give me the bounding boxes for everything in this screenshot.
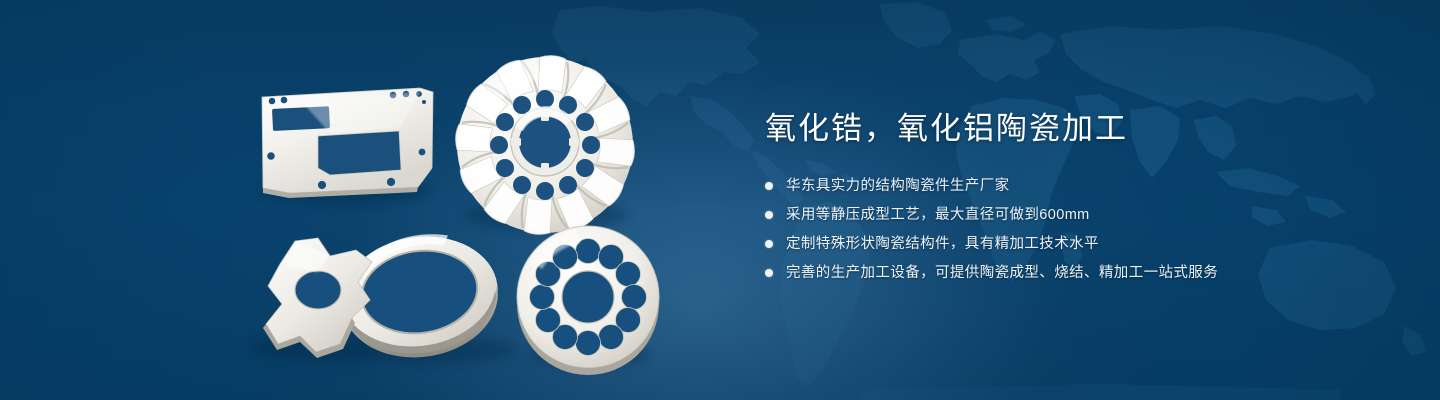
ceramic-mounting-plate — [262, 88, 433, 198]
list-item-label: 采用等静压成型工艺，最大直径可做到600mm — [786, 205, 1090, 225]
hero-banner: 氧化锆，氧化铝陶瓷加工 华东具实力的结构陶瓷件生产厂家 采用等静压成型工艺，最大… — [0, 0, 1440, 400]
list-item: 华东具实力的结构陶瓷件生产厂家 — [765, 176, 1385, 196]
list-item-label: 完善的生产加工设备，可提供陶瓷成型、烧结、精加工一站式服务 — [786, 263, 1218, 283]
bullet-dot-icon — [765, 240, 773, 248]
bullet-dot-icon — [765, 211, 773, 219]
list-item-label: 华东具实力的结构陶瓷件生产厂家 — [786, 176, 1010, 196]
list-item: 采用等静压成型工艺，最大直径可做到600mm — [765, 205, 1385, 225]
feature-list: 华东具实力的结构陶瓷件生产厂家 采用等静压成型工艺，最大直径可做到600mm 定… — [765, 176, 1385, 283]
page-title: 氧化锆，氧化铝陶瓷加工 — [765, 108, 1385, 150]
bullet-dot-icon — [765, 182, 773, 190]
list-item: 完善的生产加工设备，可提供陶瓷成型、烧结、精加工一站式服务 — [765, 263, 1385, 283]
list-item-label: 定制特殊形状陶瓷结构件，具有精加工技术水平 — [786, 234, 1099, 254]
product-image-group — [0, 0, 700, 400]
bullet-dot-icon — [765, 269, 773, 277]
ceramic-twelve-hole-disc — [517, 226, 659, 375]
list-item: 定制特殊形状陶瓷结构件，具有精加工技术水平 — [765, 234, 1385, 254]
banner-copy: 氧化锆，氧化铝陶瓷加工 华东具实力的结构陶瓷件生产厂家 采用等静压成型工艺，最大… — [765, 108, 1385, 283]
